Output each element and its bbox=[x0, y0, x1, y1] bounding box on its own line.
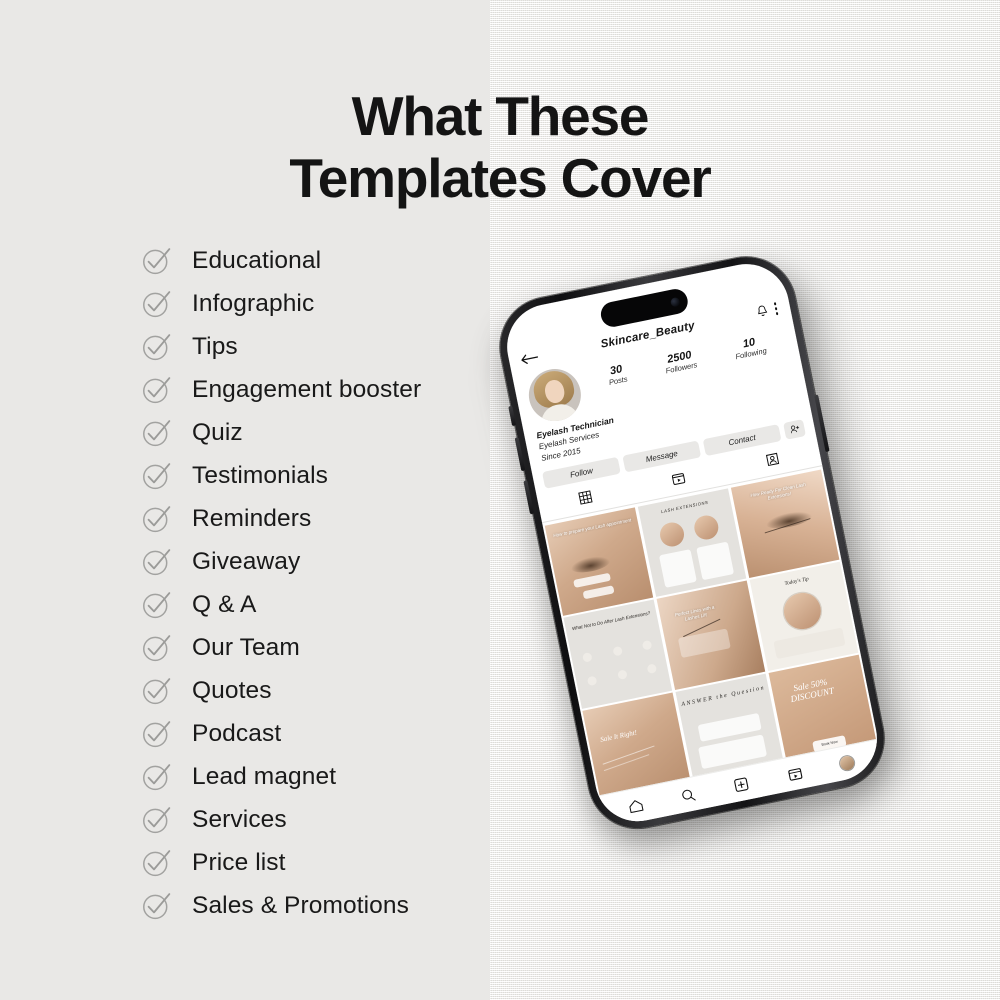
checklist-item-label: Reminders bbox=[192, 505, 311, 533]
add-post-icon[interactable] bbox=[733, 775, 751, 793]
check-circle-icon bbox=[142, 246, 172, 276]
checklist-item: Reminders bbox=[142, 497, 542, 540]
check-circle-icon bbox=[142, 375, 172, 405]
volume-down-button[interactable] bbox=[523, 480, 534, 514]
checklist-item-label: Tips bbox=[192, 333, 238, 361]
bell-icon[interactable] bbox=[755, 304, 769, 319]
page-title-line1: What These bbox=[352, 85, 649, 147]
checklist-item: Giveaway bbox=[142, 540, 542, 583]
icon-row bbox=[582, 640, 653, 663]
checklist-item: Testimonials bbox=[142, 454, 542, 497]
profile-stat[interactable]: 10Following bbox=[732, 334, 767, 361]
post-caption: Perfect Lines with a Lashes Lift bbox=[669, 603, 722, 626]
check-circle-icon bbox=[142, 891, 172, 921]
post-text-block bbox=[773, 627, 845, 659]
checklist-item: Our Team bbox=[142, 626, 542, 669]
checklist-item: Quiz bbox=[142, 411, 542, 454]
checklist-item-label: Podcast bbox=[192, 720, 281, 748]
post-caption: How to prepare your Lash appointment bbox=[552, 517, 633, 539]
check-circle-icon bbox=[142, 289, 172, 319]
feature-checklist: EducationalInfographicTipsEngagement boo… bbox=[142, 239, 542, 927]
eye-shape bbox=[569, 554, 612, 576]
post-thumb bbox=[657, 520, 685, 548]
check-circle-icon bbox=[142, 590, 172, 620]
post-thumb bbox=[692, 513, 720, 541]
checklist-item-label: Giveaway bbox=[192, 548, 300, 576]
checklist-item-label: Services bbox=[192, 806, 287, 834]
check-circle-icon bbox=[142, 547, 172, 577]
checklist-item-label: Our Team bbox=[192, 634, 300, 662]
checklist-item: Price list bbox=[142, 841, 542, 884]
check-circle-icon bbox=[142, 332, 172, 362]
grid-post[interactable]: Today's Tip bbox=[749, 562, 858, 671]
post-caption: ANSWER the Question bbox=[678, 685, 770, 709]
checklist-item: Sales & Promotions bbox=[142, 884, 542, 927]
checklist-item-label: Infographic bbox=[192, 290, 314, 318]
checklist-item: Educational bbox=[142, 239, 542, 282]
checklist-item: Services bbox=[142, 798, 542, 841]
post-chip bbox=[678, 628, 731, 658]
grid-post[interactable]: Perfect Lines with a Lashes Lift bbox=[656, 581, 765, 690]
checklist-item-label: Lead magnet bbox=[192, 763, 336, 791]
check-circle-icon bbox=[142, 848, 172, 878]
post-caption: What Not to Do After Lash Extensions? bbox=[571, 610, 652, 632]
more-vertical-icon[interactable] bbox=[773, 302, 779, 315]
checklist-item-label: Sales & Promotions bbox=[192, 892, 409, 920]
grid-post[interactable]: How Ready For Clean Lash Extensions! bbox=[730, 469, 839, 578]
lash-line bbox=[604, 754, 650, 771]
check-circle-icon bbox=[142, 805, 172, 835]
post-caption: Sale 50% DISCOUNT bbox=[775, 673, 848, 707]
checklist-item-label: Quotes bbox=[192, 677, 272, 705]
post-caption: LASH EXTENSIONS bbox=[644, 496, 725, 518]
mute-switch[interactable] bbox=[508, 406, 516, 426]
grid-post[interactable]: How to prepare your Lash appointment bbox=[545, 507, 654, 616]
checklist-item-label: Engagement booster bbox=[192, 376, 421, 404]
post-list-card bbox=[696, 542, 734, 581]
profile-stat[interactable]: 2500Followers bbox=[662, 348, 698, 375]
checklist-item-label: Educational bbox=[192, 247, 321, 275]
checklist-item: Podcast bbox=[142, 712, 542, 755]
checklist-item-label: Price list bbox=[192, 849, 286, 877]
check-circle-icon bbox=[142, 762, 172, 792]
volume-up-button[interactable] bbox=[515, 437, 526, 471]
profile-avatar[interactable] bbox=[524, 364, 585, 425]
profile-nav-avatar[interactable] bbox=[839, 754, 856, 771]
checklist-item-label: Q & A bbox=[192, 591, 257, 619]
checklist-item-label: Testimonials bbox=[192, 462, 328, 490]
search-icon[interactable] bbox=[680, 786, 698, 804]
checklist-item-label: Quiz bbox=[192, 419, 243, 447]
checklist-item: Tips bbox=[142, 325, 542, 368]
post-caption: Sale It Right! bbox=[593, 727, 643, 745]
poster-canvas: What These Templates Cover EducationalIn… bbox=[0, 0, 1000, 1000]
check-circle-icon bbox=[142, 633, 172, 663]
checklist-item: Lead magnet bbox=[142, 755, 542, 798]
check-circle-icon bbox=[142, 461, 172, 491]
profile-stat[interactable]: 30Posts bbox=[606, 363, 629, 387]
page-title-line2: Templates Cover bbox=[0, 148, 1000, 210]
check-circle-icon bbox=[142, 504, 172, 534]
icon-row bbox=[587, 663, 658, 686]
post-thumb bbox=[781, 589, 825, 633]
grid-post[interactable]: LASH EXTENSIONS bbox=[638, 488, 747, 597]
check-circle-icon bbox=[142, 676, 172, 706]
post-list-card bbox=[659, 549, 697, 588]
front-camera-icon bbox=[670, 296, 681, 307]
check-circle-icon bbox=[142, 719, 172, 749]
checklist-item: Q & A bbox=[142, 583, 542, 626]
home-icon[interactable] bbox=[627, 797, 645, 815]
post-chip bbox=[582, 585, 614, 599]
page-title: What These Templates Cover bbox=[0, 86, 1000, 209]
grid-post[interactable]: What Not to Do After Lash Extensions? bbox=[564, 600, 673, 709]
post-caption: How Ready For Clean Lash Extensions! bbox=[738, 479, 820, 508]
checklist-item: Quotes bbox=[142, 669, 542, 712]
check-circle-icon bbox=[142, 418, 172, 448]
reels-nav-icon[interactable] bbox=[786, 764, 804, 782]
checklist-item: Engagement booster bbox=[142, 368, 542, 411]
post-chip bbox=[573, 572, 611, 587]
